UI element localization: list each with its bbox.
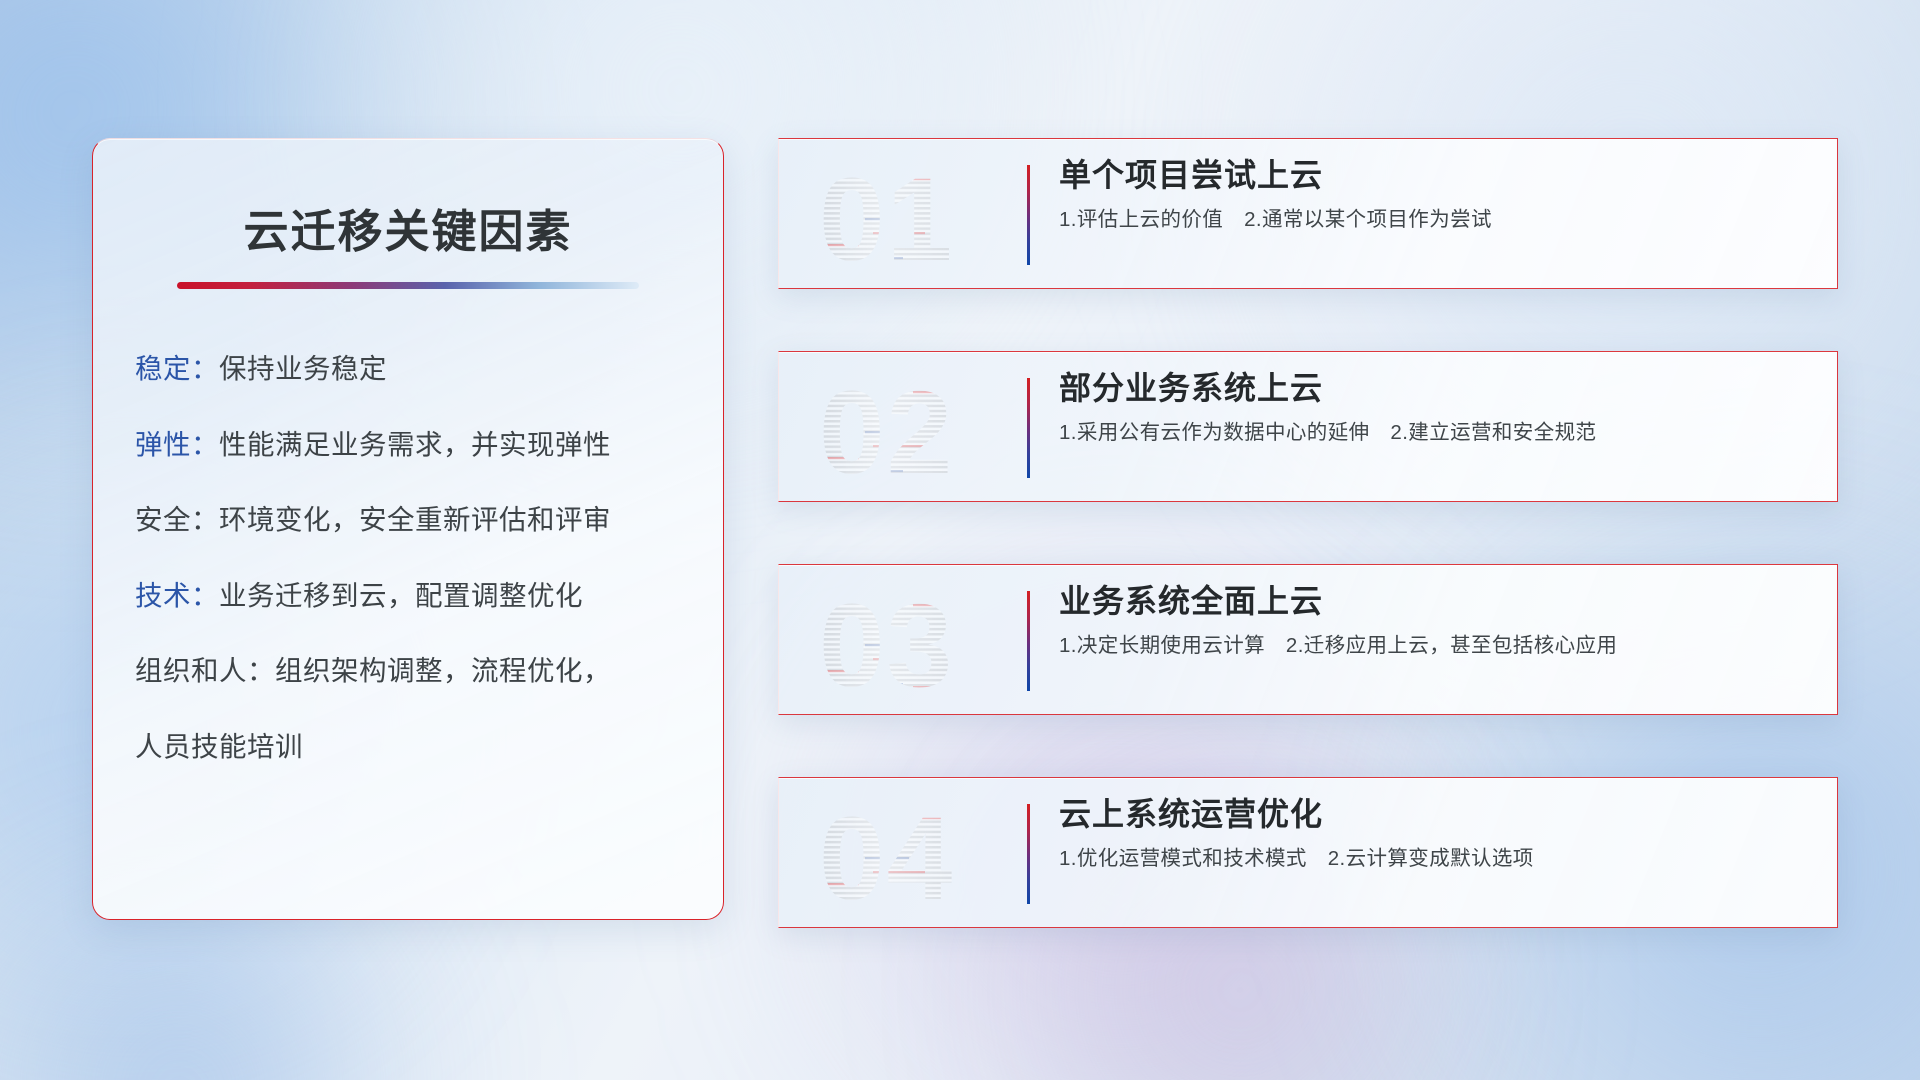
factor-value: 业务迁移到云，配置调整优化 bbox=[219, 580, 583, 611]
factor-item: 技术：业务迁移到云，配置调整优化 bbox=[135, 582, 723, 610]
card-divider bbox=[1027, 378, 1030, 478]
stage-card[interactable]: 01单个项目尝试上云1.评估上云的价值 2.通常以某个项目作为尝试 bbox=[778, 138, 1838, 289]
factor-value: 环境变化，安全重新评估和评审 bbox=[219, 504, 611, 535]
factor-value: 人员技能培训 bbox=[135, 731, 303, 762]
card-subtitle: 1.优化运营模式和技术模式 2.云计算变成默认选项 bbox=[1059, 846, 1811, 873]
card-divider bbox=[1027, 591, 1030, 691]
factor-value: 保持业务稳定 bbox=[219, 353, 387, 384]
factor-label: 安全： bbox=[135, 504, 219, 535]
card-title: 业务系统全面上云 bbox=[1059, 583, 1811, 621]
card-subtitle: 1.采用公有云作为数据中心的延伸 2.建立运营和安全规范 bbox=[1059, 420, 1811, 447]
card-title: 部分业务系统上云 bbox=[1059, 370, 1811, 408]
card-body: 业务系统全面上云1.决定长期使用云计算 2.迁移应用上云，甚至包括核心应用 bbox=[1059, 583, 1811, 659]
factor-label: 组织和人： bbox=[135, 655, 275, 686]
page-title: 云迁移关键因素 bbox=[93, 195, 723, 260]
stage-card[interactable]: 04云上系统运营优化1.优化运营模式和技术模式 2.云计算变成默认选项 bbox=[778, 777, 1838, 928]
card-body: 单个项目尝试上云1.评估上云的价值 2.通常以某个项目作为尝试 bbox=[1059, 157, 1811, 233]
card-divider bbox=[1027, 804, 1030, 904]
card-title: 单个项目尝试上云 bbox=[1059, 157, 1811, 195]
key-factors-panel: 云迁移关键因素 稳定：保持业务稳定弹性：性能满足业务需求，并实现弹性安全：环境变… bbox=[92, 138, 724, 920]
factor-item: 组织和人：组织架构调整，流程优化， bbox=[135, 657, 723, 685]
factor-list: 稳定：保持业务稳定弹性：性能满足业务需求，并实现弹性安全：环境变化，安全重新评估… bbox=[135, 355, 723, 760]
card-body: 云上系统运营优化1.优化运营模式和技术模式 2.云计算变成默认选项 bbox=[1059, 796, 1811, 872]
factor-value: 性能满足业务需求，并实现弹性 bbox=[219, 429, 611, 460]
stage-number-01: 01 bbox=[817, 156, 995, 274]
card-body: 部分业务系统上云1.采用公有云作为数据中心的延伸 2.建立运营和安全规范 bbox=[1059, 370, 1811, 446]
factor-label: 稳定： bbox=[135, 353, 219, 384]
factor-item: 稳定：保持业务稳定 bbox=[135, 355, 723, 383]
card-title: 云上系统运营优化 bbox=[1059, 796, 1811, 834]
stage-card-list: 01单个项目尝试上云1.评估上云的价值 2.通常以某个项目作为尝试02部分业务系… bbox=[778, 138, 1838, 928]
card-divider bbox=[1027, 165, 1030, 265]
card-subtitle: 1.评估上云的价值 2.通常以某个项目作为尝试 bbox=[1059, 207, 1811, 234]
factor-label: 弹性： bbox=[135, 429, 219, 460]
factor-value: 组织架构调整，流程优化， bbox=[275, 655, 611, 686]
card-subtitle: 1.决定长期使用云计算 2.迁移应用上云，甚至包括核心应用 bbox=[1059, 633, 1811, 660]
factor-label: 技术： bbox=[135, 580, 219, 611]
factor-item: 人员技能培训 bbox=[135, 733, 723, 761]
title-underline-rule bbox=[177, 282, 639, 289]
stage-card[interactable]: 03业务系统全面上云1.决定长期使用云计算 2.迁移应用上云，甚至包括核心应用 bbox=[778, 564, 1838, 715]
stage-card[interactable]: 02部分业务系统上云1.采用公有云作为数据中心的延伸 2.建立运营和安全规范 bbox=[778, 351, 1838, 502]
factor-item: 弹性：性能满足业务需求，并实现弹性 bbox=[135, 431, 723, 459]
stage-number-02: 02 bbox=[817, 369, 995, 487]
stage-number-04: 04 bbox=[817, 795, 995, 913]
stage-number-03: 03 bbox=[817, 582, 995, 700]
factor-item: 安全：环境变化，安全重新评估和评审 bbox=[135, 506, 723, 534]
slide-stage: 云迁移关键因素 稳定：保持业务稳定弹性：性能满足业务需求，并实现弹性安全：环境变… bbox=[0, 0, 1920, 1080]
